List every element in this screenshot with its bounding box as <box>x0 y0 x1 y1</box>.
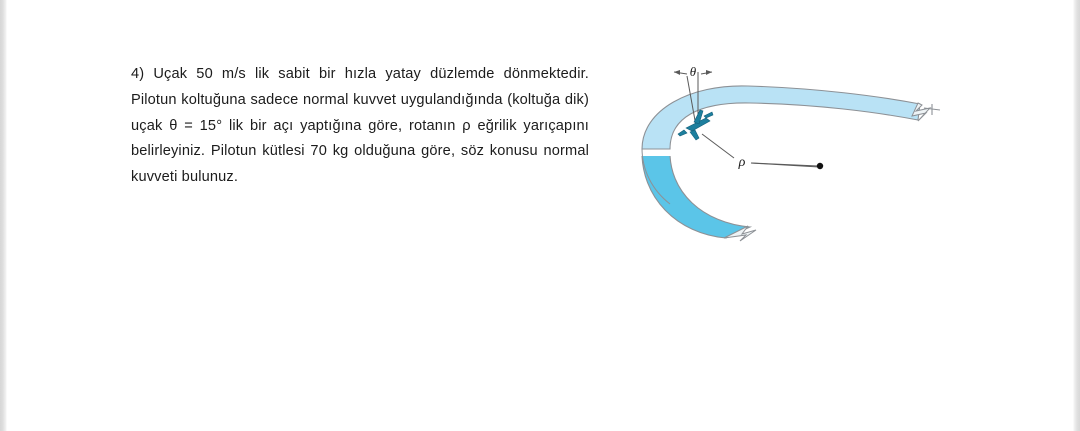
question-text: 4) Uçak 50 m/s lik sabit bir hızla yatay… <box>131 62 589 191</box>
question-block: 4) Uçak 50 m/s lik sabit bir hızla yatay… <box>131 62 589 191</box>
ribbon-upper-segment <box>642 86 920 149</box>
page-gutter-right <box>1073 0 1080 431</box>
document-page: 4) Uçak 50 m/s lik sabit bir hızla yatay… <box>0 0 1080 431</box>
radius-label: ρ <box>738 155 746 170</box>
radius-leader-line: ρ <box>702 134 819 170</box>
figure-banked-turn: θ ρ <box>630 48 960 248</box>
center-dot <box>817 163 823 169</box>
page-gutter-left <box>0 0 7 431</box>
angle-label: θ <box>690 64 697 79</box>
